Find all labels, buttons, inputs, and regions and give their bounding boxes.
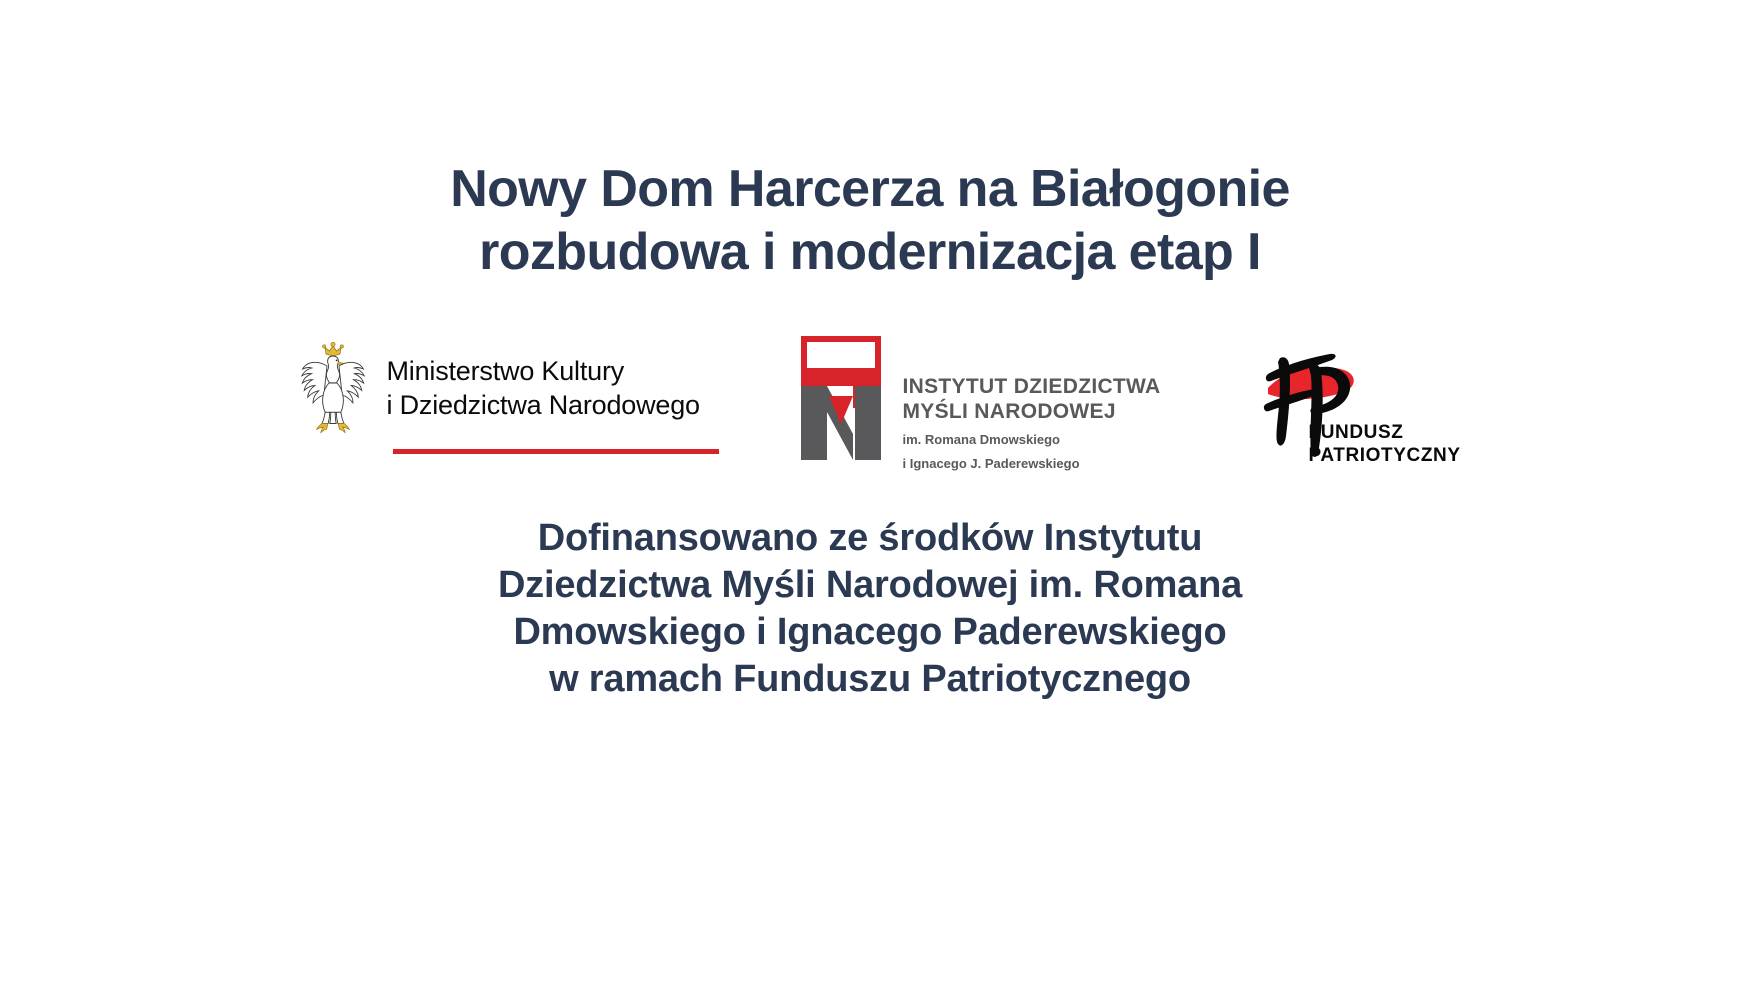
funding-statement: Dofinansowano ze środków Instytutu Dzied… <box>0 515 1740 703</box>
ministry-logo-text-line-2: i Dziedzictwa Narodowego <box>387 388 700 422</box>
funding-line-2: Dziedzictwa Myśli Narodowej im. Romana <box>0 562 1740 609</box>
ministry-logo-red-rule <box>393 449 719 454</box>
ministry-logo-inner: Ministerstwo Kultury i Dziedzictwa Narod… <box>289 336 700 440</box>
ministry-logo-text: Ministerstwo Kultury i Dziedzictwa Narod… <box>387 354 700 422</box>
funding-line-4: w ramach Funduszu Patriotycznego <box>0 656 1740 703</box>
logo-row: Ministerstwo Kultury i Dziedzictwa Narod… <box>0 330 1740 472</box>
polish-eagle-emblem-icon <box>289 336 377 440</box>
idmn-n-flag-mark-icon <box>795 330 887 460</box>
page-title: Nowy Dom Harcerza na Białogonie rozbudow… <box>0 158 1740 284</box>
title-line-1: Nowy Dom Harcerza na Białogonie <box>0 158 1740 221</box>
funding-acknowledgement-poster: Nowy Dom Harcerza na Białogonie rozbudow… <box>0 0 1740 1000</box>
idmn-sub-line-2: i Ignacego J. Paderewskiego <box>903 455 1161 472</box>
ministry-logo-text-line-1: Ministerstwo Kultury <box>387 354 700 388</box>
fp-text-line-1: FUNDUSZ <box>1308 421 1460 444</box>
fp-text-line-2: PATRIOTYCZNY <box>1308 444 1460 467</box>
funding-line-3: Dmowskiego i Ignacego Paderewskiego <box>0 609 1740 656</box>
idmn-logo: INSTYTUT DZIEDZICTWA MYŚLI NARODOWEJ im.… <box>795 330 1161 472</box>
fundusz-patriotyczny-text: FUNDUSZ PATRIOTYCZNY <box>1308 421 1460 467</box>
ministry-of-culture-logo: Ministerstwo Kultury i Dziedzictwa Narod… <box>289 330 719 454</box>
title-line-2: rozbudowa i modernizacja etap I <box>0 221 1740 284</box>
idmn-sub-line-1: im. Romana Dmowskiego <box>903 431 1161 448</box>
funding-line-1: Dofinansowano ze środków Instytutu <box>0 515 1740 562</box>
idmn-logo-text: INSTYTUT DZIEDZICTWA MYŚLI NARODOWEJ im.… <box>903 330 1161 472</box>
idmn-main-line-1: INSTYTUT DZIEDZICTWA <box>903 374 1161 399</box>
fundusz-patriotyczny-logo: FUNDUSZ PATRIOTYCZNY <box>1236 330 1451 470</box>
idmn-main-line-2: MYŚLI NARODOWEJ <box>903 399 1161 424</box>
